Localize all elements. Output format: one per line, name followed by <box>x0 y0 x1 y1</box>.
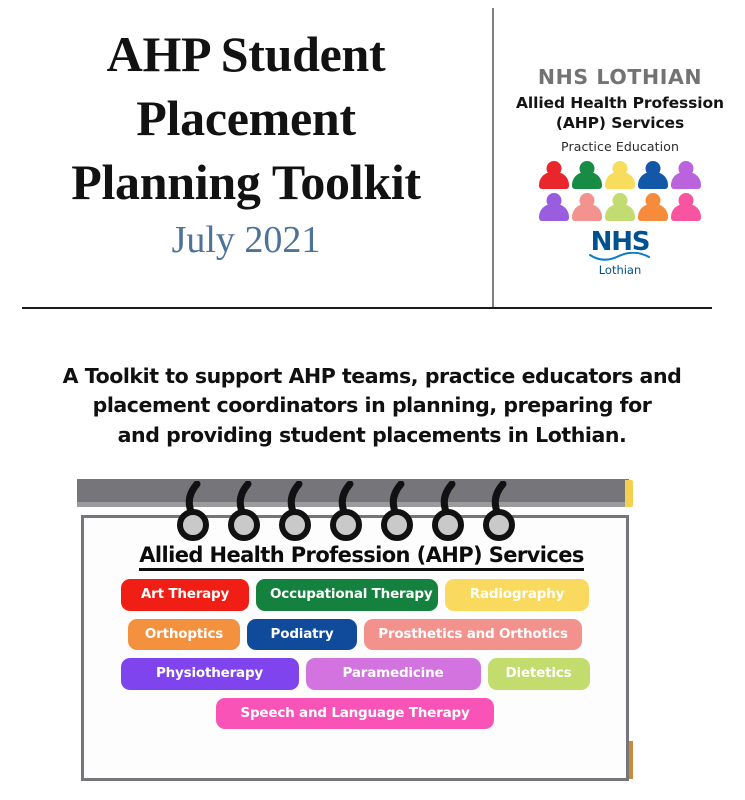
person-blue-icon <box>638 161 668 191</box>
person-green-icon <box>572 161 602 191</box>
person-lime-icon <box>605 193 635 223</box>
tag-row-4: Speech and Language Therapy <box>87 698 623 730</box>
flipchart-ring-7-icon <box>483 481 517 543</box>
page-title: AHP Student Placement Planning Toolkit <box>10 22 482 214</box>
person-pink-icon <box>671 193 701 223</box>
flipchart-ring-2-icon <box>228 481 262 543</box>
person-salmon-icon <box>572 193 602 223</box>
people-row-2 <box>537 193 703 223</box>
logo-service-line-1: Allied Health Profession <box>500 93 740 113</box>
ahp-profession-tag-list: Art TherapyOccupational TherapyRadiograp… <box>87 579 623 729</box>
logo-service-line-2: (AHP) Services <box>500 113 740 133</box>
profession-tag-radiography[interactable]: Radiography <box>445 579 589 611</box>
flipchart-ring-5-icon <box>381 481 415 543</box>
logo-tagline: Practice Education <box>500 139 740 154</box>
nhs-logo-text: NHS <box>500 230 740 255</box>
nhs-lothian-logo: NHS LOTHIAN Allied Health Profession (AH… <box>500 66 740 277</box>
ahp-services-flipchart-figure: Allied Health Profession (AHP) Services … <box>77 479 635 783</box>
profession-tag-orthoptics[interactable]: Orthoptics <box>128 619 240 651</box>
flipchart-accent-top <box>625 480 633 507</box>
profession-tag-prosthetics-and-orthotics[interactable]: Prosthetics and Orthotics <box>364 619 582 651</box>
flipchart-ring-4-icon <box>330 481 364 543</box>
profession-tag-paramedicine[interactable]: Paramedicine <box>306 658 481 690</box>
person-violet-icon <box>671 161 701 191</box>
flipchart-ring-3-icon <box>279 481 313 543</box>
person-orange-icon <box>638 193 668 223</box>
intro-paragraph: A Toolkit to support AHP teams, practice… <box>38 362 706 450</box>
title-header-band: AHP Student Placement Planning Toolkit J… <box>0 0 745 310</box>
people-pictogram <box>537 161 703 223</box>
nhs-blue-logo: NHS Lothian <box>500 230 740 277</box>
nhs-lothian-wordmark: NHS LOTHIAN <box>500 66 740 90</box>
profession-tag-dietetics[interactable]: Dietetics <box>488 658 590 690</box>
flipchart-ring-row <box>177 481 537 543</box>
flipchart-ring-1-icon <box>177 481 211 543</box>
person-red-icon <box>539 161 569 191</box>
profession-tag-speech-and-language-therapy[interactable]: Speech and Language Therapy <box>216 698 494 730</box>
profession-tag-podiatry[interactable]: Podiatry <box>247 619 357 651</box>
flipchart-content: Allied Health Profession (AHP) Services … <box>87 543 623 729</box>
people-row-1 <box>537 161 703 191</box>
profession-tag-art-therapy[interactable]: Art Therapy <box>121 579 249 611</box>
ahp-services-heading: Allied Health Profession (AHP) Services <box>139 543 584 571</box>
title-block: AHP Student Placement Planning Toolkit J… <box>10 22 482 262</box>
tag-row-3: PhysiotherapyParamedicineDietetics <box>87 658 623 690</box>
tag-row-2: OrthopticsPodiatryProsthetics and Orthot… <box>87 619 623 651</box>
flipchart-ring-6-icon <box>432 481 466 543</box>
document-date: July 2021 <box>10 220 482 262</box>
tag-row-1: Art TherapyOccupational TherapyRadiograp… <box>87 579 623 611</box>
profession-tag-occupational-therapy[interactable]: Occupational Therapy <box>256 579 438 611</box>
person-yellow-icon <box>605 161 635 191</box>
person-purple-icon <box>539 193 569 223</box>
nhs-lothian-sublabel: Lothian <box>500 263 740 277</box>
header-vertical-divider <box>492 8 494 308</box>
header-horizontal-rule <box>22 307 712 309</box>
profession-tag-physiotherapy[interactable]: Physiotherapy <box>121 658 299 690</box>
